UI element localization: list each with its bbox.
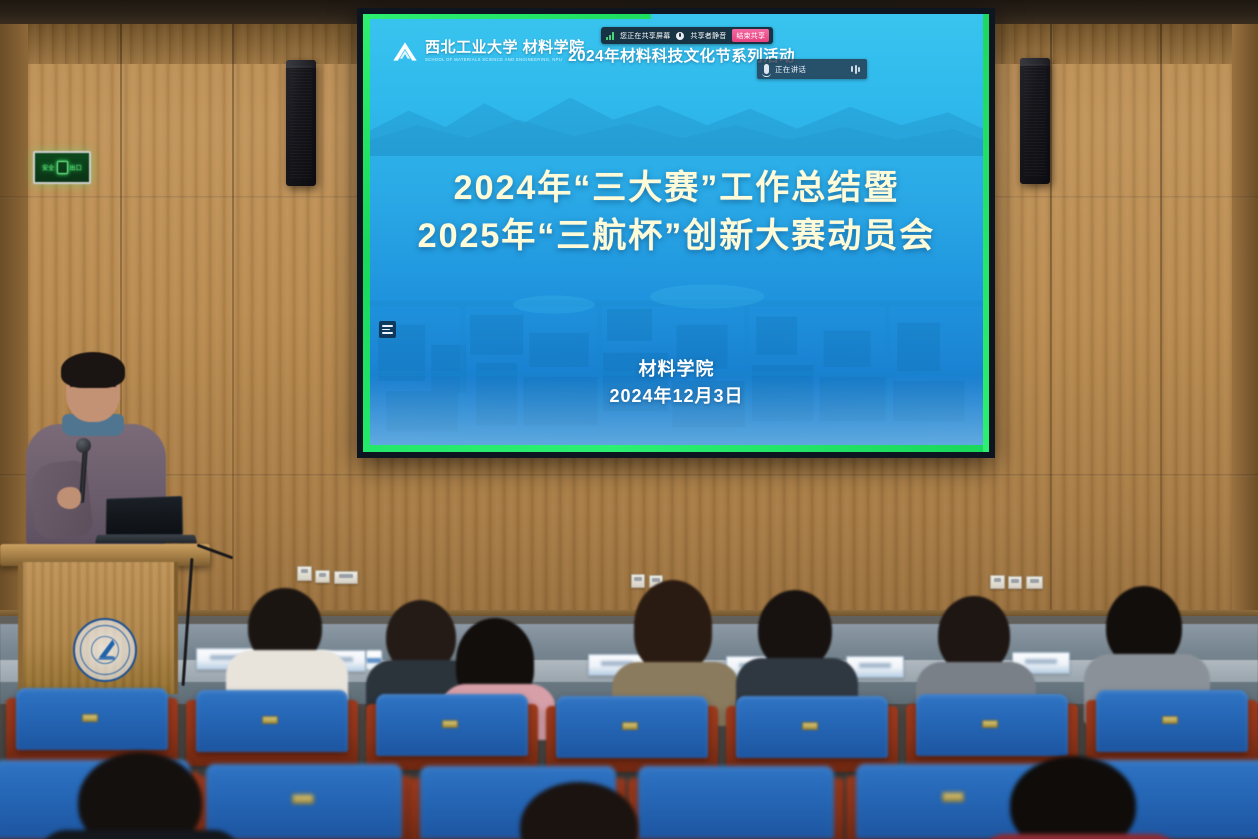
seat-number-plate xyxy=(942,792,964,802)
seat-number-plate xyxy=(1162,716,1178,724)
laptop-icon xyxy=(105,496,183,535)
podium-with-presenter xyxy=(0,352,250,692)
presenter-hair xyxy=(61,352,125,388)
slide-title-line-1: 2024年“三大赛”工作总结暨 xyxy=(370,164,983,212)
slide-subtitle-org: 材料学院 xyxy=(370,356,983,383)
mountain-silhouette-graphic xyxy=(370,83,983,156)
wall-plate xyxy=(1026,576,1043,589)
signal-bars-icon xyxy=(606,32,614,40)
laptop-keyboard xyxy=(95,535,197,543)
presentation-slide: 西北工业大学 材料学院 SCHOOL OF MATERIALS SCIENCE … xyxy=(370,14,983,445)
screen-led-strip-right xyxy=(983,14,989,452)
microphone-head xyxy=(76,438,91,453)
audience-seat[interactable] xyxy=(638,766,834,839)
wall-panel-seam xyxy=(1160,24,1162,664)
npu-mountain-logo-icon xyxy=(392,41,418,62)
speaking-label: 正在讲话 xyxy=(775,64,806,75)
seat-number-plate xyxy=(442,720,458,728)
wall-right-return xyxy=(1232,24,1258,684)
wall-plate xyxy=(297,566,312,581)
seat-number-plate xyxy=(292,794,314,804)
conference-hall-scene: 安全 出口 xyxy=(0,0,1258,839)
speaking-indicator[interactable]: 正在讲话 xyxy=(757,59,867,79)
sharing-status-label: 您正在共享屏幕 xyxy=(620,31,670,41)
screen-share-toast[interactable]: 您正在共享屏幕 共享者静音 结束共享 xyxy=(601,27,773,44)
wall-plate xyxy=(315,570,330,583)
emergency-exit-sign: 安全 出口 xyxy=(33,151,91,184)
slide-title-line-2: 2025年“三航杯”创新大赛动员会 xyxy=(370,212,983,260)
podium-cable xyxy=(182,558,194,686)
wall-plate xyxy=(334,571,358,584)
university-name-en: SCHOOL OF MATERIALS SCIENCE AND ENGINEER… xyxy=(425,58,585,62)
slide-subtitle-block: 材料学院 2024年12月3日 xyxy=(370,356,983,410)
seat-number-plate xyxy=(262,716,278,724)
seat-number-plate xyxy=(802,722,818,730)
seat-number-plate xyxy=(622,722,638,730)
npu-seal-emblem xyxy=(90,635,120,665)
slide-subtitle-date: 2024年12月3日 xyxy=(370,383,983,410)
wall-speaker-right xyxy=(1020,58,1050,184)
end-share-button[interactable]: 结束共享 xyxy=(732,29,769,42)
podium-body xyxy=(18,562,178,694)
exit-sign-label-left: 安全 xyxy=(42,163,54,172)
presenter-mute-label: 共享者静音 xyxy=(690,31,726,41)
wall-panel-seam xyxy=(1050,24,1052,664)
wall-plate xyxy=(1008,576,1022,589)
screen-led-strip-left xyxy=(363,14,370,452)
slide-header: 西北工业大学 材料学院 SCHOOL OF MATERIALS SCIENCE … xyxy=(370,14,983,90)
wall-plate xyxy=(631,574,645,588)
projection-screen[interactable]: 西北工业大学 材料学院 SCHOOL OF MATERIALS SCIENCE … xyxy=(357,8,995,458)
university-name-cn: 西北工业大学 材料学院 xyxy=(425,40,585,55)
presenter-hand xyxy=(57,487,81,509)
npu-seal-icon xyxy=(73,618,137,682)
university-brand: 西北工业大学 材料学院 SCHOOL OF MATERIALS SCIENCE … xyxy=(392,40,585,62)
exit-door-icon xyxy=(57,161,68,174)
slide-title-block: 2024年“三大赛”工作总结暨 2025年“三航杯”创新大赛动员会 xyxy=(370,164,983,261)
seat-number-plate xyxy=(82,714,98,722)
menu-list-icon[interactable] xyxy=(379,321,396,338)
presenter-glasses xyxy=(70,385,116,394)
audio-wave-icon xyxy=(851,65,860,74)
exit-sign-label-right: 出口 xyxy=(70,163,82,172)
microphone-icon xyxy=(676,32,684,40)
wall-speaker-left xyxy=(286,60,316,186)
microphone-icon xyxy=(764,64,769,74)
seat-number-plate xyxy=(982,720,998,728)
screen-led-strip-bottom xyxy=(363,445,989,452)
wall-plate xyxy=(990,575,1005,589)
screen-led-strip-top xyxy=(363,14,651,19)
